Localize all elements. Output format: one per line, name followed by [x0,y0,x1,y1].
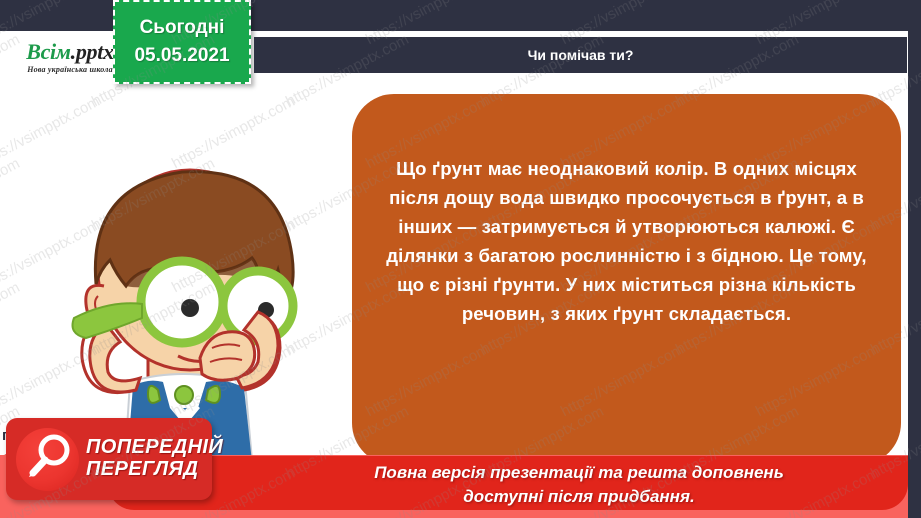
page-title: Чи помічав ти? [528,47,634,63]
date-badge-value: 05.05.2021 [134,42,229,70]
preview-badge-line-1: ПОПЕРЕДНІЙ [86,436,223,458]
preview-badge-label: ПОПЕРЕДНІЙ ПЕРЕГЛЯД [86,437,223,480]
logo-wordmark: Всім.pptx [26,41,114,63]
content-panel: Що ґрунт має неоднаковий колір. В одних … [352,94,901,465]
magnifier-icon [16,428,79,491]
purchase-notice: Повна версія презентації та решта доповн… [250,461,908,508]
presentation-slide: Всім.pptx Нова українська школа Сьогодні… [0,0,921,518]
logo-brand-suffix: pptx [76,39,114,64]
logo-tagline: Нова українська школа [27,65,113,74]
date-badge-label: Сьогодні [140,14,225,42]
purchase-notice-line-2: доступні після придбання. [250,485,908,508]
today-date-badge: Сьогодні 05.05.2021 [113,0,251,84]
preview-badge-line-2: ПЕРЕГЛЯД [86,458,198,480]
slide-title-bar: Чи помічав ти? [254,37,907,73]
purchase-notice-line-1: Повна версія презентації та решта доповн… [250,461,908,484]
logo-brand-prefix: Всім [26,39,70,64]
preview-badge[interactable]: ПОПЕРЕДНІЙ ПЕРЕГЛЯД [6,418,212,500]
content-body-text: Що ґрунт має неоднаковий колір. В одних … [374,154,879,328]
slide-right-border [908,0,921,518]
